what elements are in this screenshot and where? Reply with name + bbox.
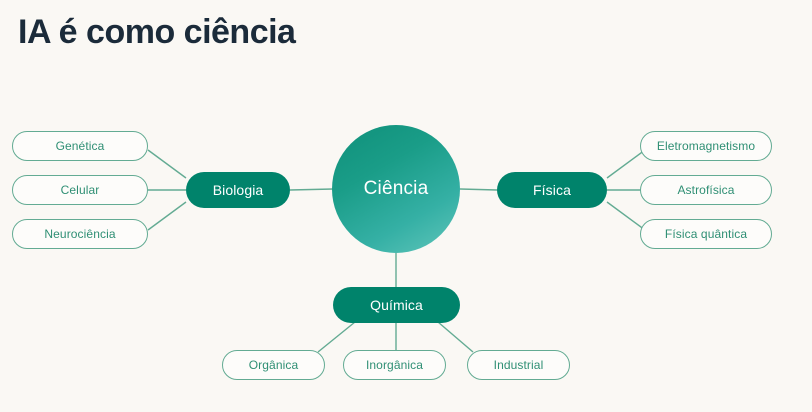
branch-node-quimica-label: Química bbox=[370, 297, 423, 313]
edge-biologia-neurociencia bbox=[148, 202, 186, 230]
edge-fisica-quantica bbox=[607, 202, 645, 230]
leaf-node-eletromagnetismo-label: Eletromagnetismo bbox=[657, 139, 755, 153]
edge-quimica-industrial bbox=[438, 322, 473, 352]
edge-center-biologia bbox=[290, 189, 333, 190]
branch-node-biologia-label: Biologia bbox=[213, 182, 264, 198]
leaf-node-neurociencia[interactable]: Neurociência bbox=[12, 219, 148, 249]
edge-biologia-genetica bbox=[148, 150, 186, 178]
leaf-node-industrial[interactable]: Industrial bbox=[467, 350, 570, 380]
leaf-node-astrofisica[interactable]: Astrofísica bbox=[640, 175, 772, 205]
mindmap-canvas: IA é como ciência CiênciaBiologiaGenétic… bbox=[0, 0, 812, 412]
leaf-node-inorganica[interactable]: Inorgânica bbox=[343, 350, 446, 380]
branch-node-fisica-label: Física bbox=[533, 182, 571, 198]
edge-center-fisica bbox=[460, 189, 497, 190]
leaf-node-eletromagnetismo[interactable]: Eletromagnetismo bbox=[640, 131, 772, 161]
center-node-ciencia[interactable]: Ciência bbox=[332, 125, 460, 253]
leaf-node-celular-label: Celular bbox=[61, 183, 100, 197]
branch-node-biologia[interactable]: Biologia bbox=[186, 172, 290, 208]
leaf-node-organica-label: Orgânica bbox=[249, 358, 299, 372]
branch-node-quimica[interactable]: Química bbox=[333, 287, 460, 323]
leaf-node-inorganica-label: Inorgânica bbox=[366, 358, 423, 372]
leaf-node-astrofisica-label: Astrofísica bbox=[677, 183, 734, 197]
center-node-ciencia-label: Ciência bbox=[364, 178, 429, 200]
leaf-node-genetica[interactable]: Genética bbox=[12, 131, 148, 161]
leaf-node-fisica-quantica[interactable]: Física quântica bbox=[640, 219, 772, 249]
leaf-node-fisica-quantica-label: Física quântica bbox=[665, 227, 747, 241]
branch-node-fisica[interactable]: Física bbox=[497, 172, 607, 208]
leaf-node-celular[interactable]: Celular bbox=[12, 175, 148, 205]
edge-quimica-organica bbox=[318, 322, 355, 352]
leaf-node-organica[interactable]: Orgânica bbox=[222, 350, 325, 380]
leaf-node-genetica-label: Genética bbox=[56, 139, 105, 153]
leaf-node-neurociencia-label: Neurociência bbox=[44, 227, 115, 241]
leaf-node-industrial-label: Industrial bbox=[494, 358, 544, 372]
edge-fisica-eletromagnetismo bbox=[607, 150, 645, 178]
